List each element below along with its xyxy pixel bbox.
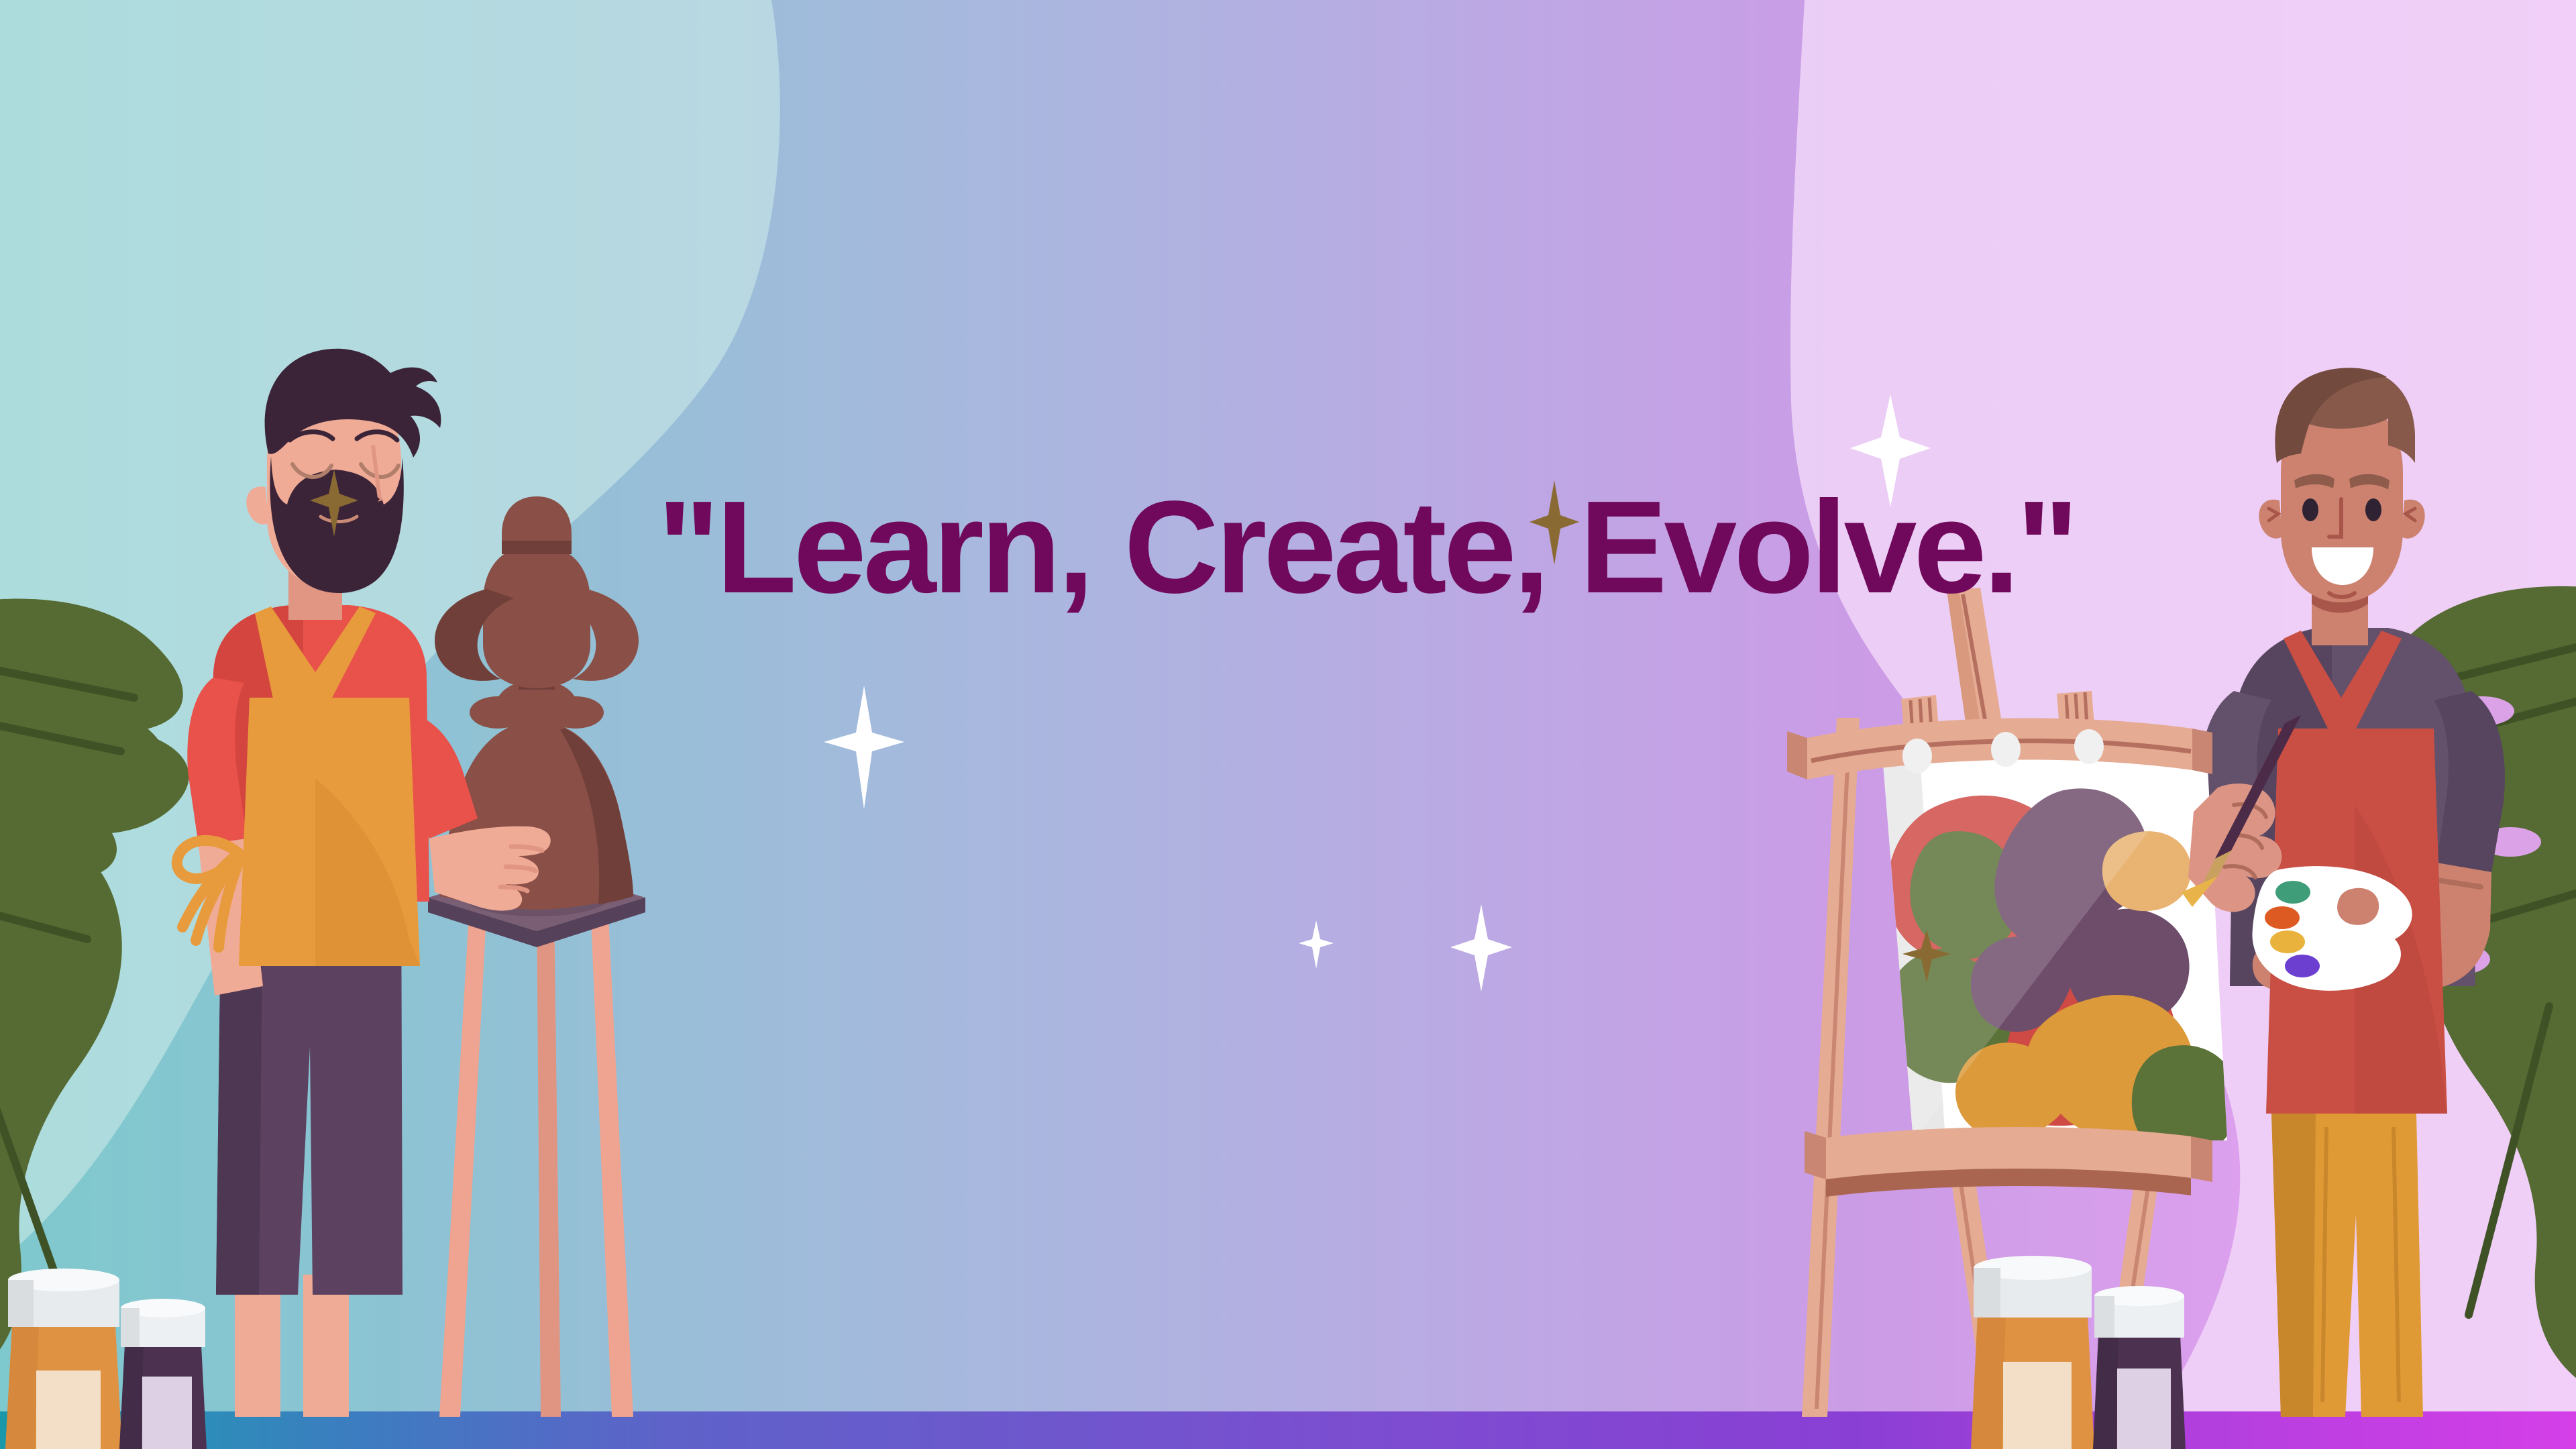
sparkle-medium-center [1450, 904, 1512, 991]
art-banner: "Learn, Create, Evolve." [0, 0, 2576, 1449]
sparkle-large-upper-right [1850, 394, 1931, 507]
sparkle-large-mid-left [824, 686, 904, 809]
sparkle-small-center [1299, 920, 1334, 969]
sparkle-headline-gold [1529, 480, 1579, 565]
sparkles-layer [0, 0, 2576, 1449]
